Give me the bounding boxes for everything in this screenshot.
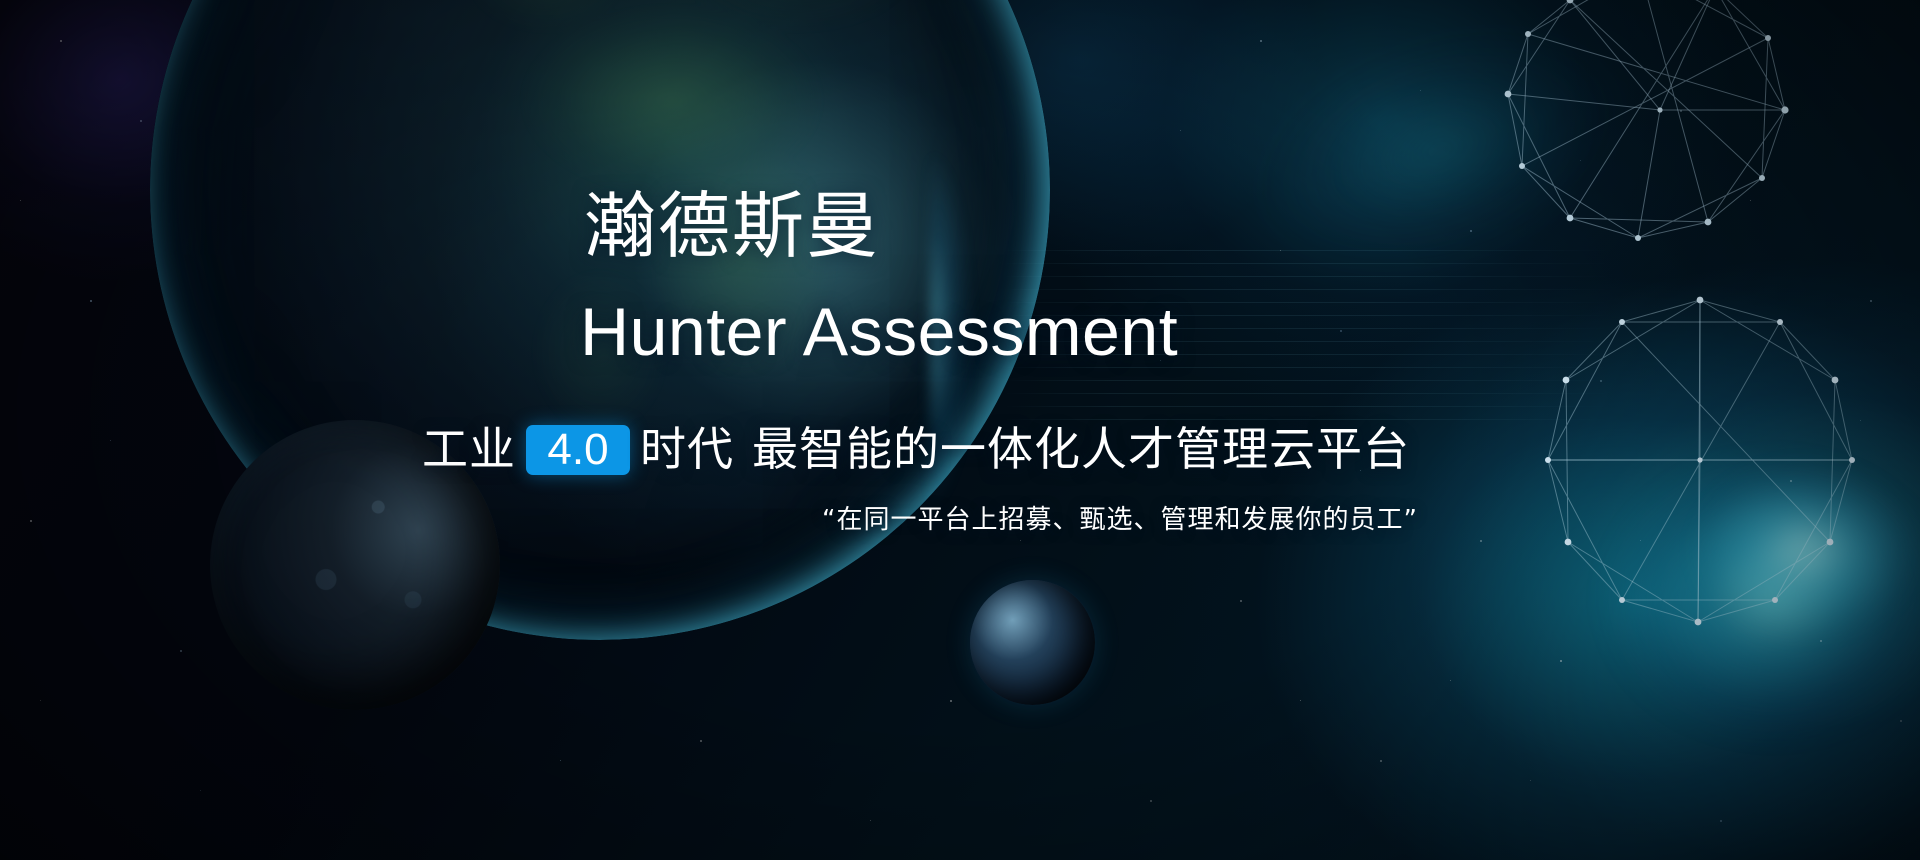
hero-quote: “在同一平台上招募、甄选、管理和发展你的员工” <box>822 505 1418 536</box>
hero-copy: 瀚德斯曼 Hunter Assessment 工业 4.0 时代 最智能的一体化… <box>0 0 1920 860</box>
hero-tagline: 工业 4.0 时代 最智能的一体化人才管理云平台 <box>422 425 1410 475</box>
hero-banner: 瀚德斯曼 Hunter Assessment 工业 4.0 时代 最智能的一体化… <box>0 0 1920 860</box>
industry-version-badge: 4.0 <box>526 425 630 475</box>
brand-title-english: Hunter Assessment <box>580 298 1178 366</box>
tagline-part-2: 时代 <box>640 425 734 475</box>
brand-title-chinese: 瀚德斯曼 <box>584 190 880 262</box>
tagline-part-3: 最智能的一体化人才管理云平台 <box>752 425 1410 475</box>
tagline-part-1: 工业 <box>422 425 516 475</box>
